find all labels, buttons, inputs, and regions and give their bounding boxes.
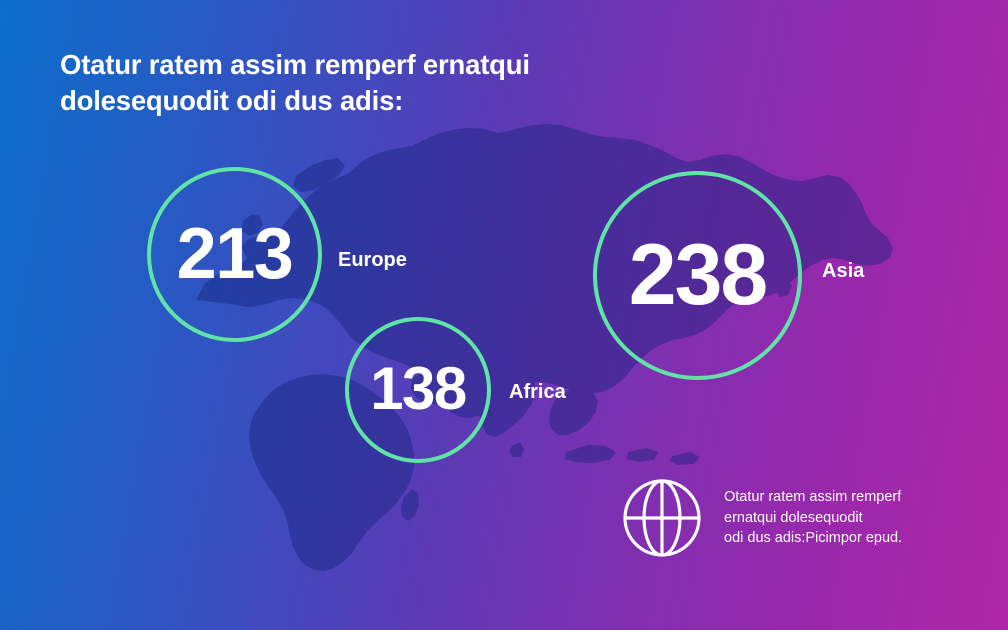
stat-circle-asia: 238 <box>593 171 802 380</box>
page-title-line-2: dolesequodit odi dus adis: <box>60 83 680 119</box>
page-title-line-1: Otatur ratem assim remperf ernatqui <box>60 47 680 83</box>
stat-value-asia: 238 <box>629 232 767 318</box>
stat-value-africa: 138 <box>370 359 466 419</box>
footer-note-line-3: odi dus adis:Picimpor epud. <box>724 528 902 549</box>
footer-note-line-1: Otatur ratem assim remperf <box>724 487 902 508</box>
stat-label-europe: Europe <box>338 250 407 270</box>
page-title: Otatur ratem assim remperf ernatqui dole… <box>60 47 680 119</box>
stat-circle-africa: 138 <box>345 317 491 463</box>
stat-label-africa: Africa <box>509 382 566 402</box>
footer-source-note: Otatur ratem assim remperf ernatqui dole… <box>622 478 902 558</box>
stat-circle-europe: 213 <box>147 167 322 342</box>
globe-icon <box>622 478 702 558</box>
footer-note-line-2: ernatqui dolesequodit <box>724 508 902 529</box>
infographic-canvas: Otatur ratem assim remperf ernatqui dole… <box>0 0 1008 630</box>
stat-value-europe: 213 <box>177 218 293 290</box>
footer-note-text: Otatur ratem assim remperf ernatqui dole… <box>724 487 902 549</box>
stat-label-asia: Asia <box>822 261 864 281</box>
